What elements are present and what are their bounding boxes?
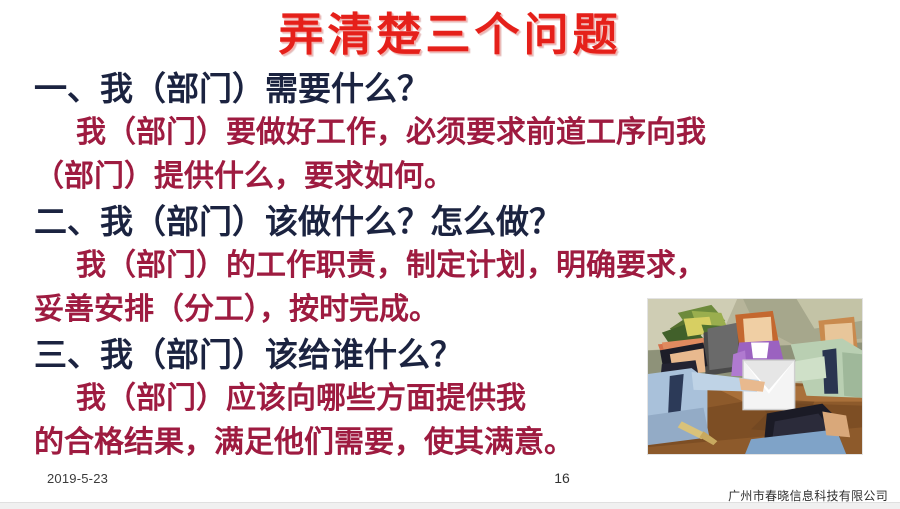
meeting-illustration-svg [648,299,862,454]
question-heading-2: 二、我（部门）该做什么？怎么做？ [0,199,900,244]
page-title: 弄清楚三个问题 [0,8,900,62]
question-body-2-line-1: 我（部门）的工作职责，制定计划，明确要求， [34,244,706,288]
question-heading-1: 一、我（部门）需要什么？ [0,66,900,111]
question-body-3-line-1: 我（部门）应该向哪些方面提供我 [34,377,526,421]
question-body-3-line-2: 的合格结果，满足他们需要，使其满意。 [34,425,574,460]
question-group-1: 一、我（部门）需要什么？ 我（部门）要做好工作，必须要求前道工序向我 （部门）提… [0,66,900,199]
page-number: 16 [0,470,900,486]
question-body-2-line-2: 妥善安排（分工），按时完成。 [34,292,439,327]
question-body-1: 我（部门）要做好工作，必须要求前道工序向我 （部门）提供什么，要求如何。 [0,111,900,199]
question-body-1-line-2: （部门）提供什么，要求如何。 [34,159,454,194]
slide-canvas: 弄清楚三个问题 一、我（部门）需要什么？ 我（部门）要做好工作，必须要求前道工序… [0,0,900,509]
bottom-bar [0,502,900,509]
business-meeting-clipart [647,298,863,455]
question-body-1-line-1: 我（部门）要做好工作，必须要求前道工序向我 [34,111,706,155]
